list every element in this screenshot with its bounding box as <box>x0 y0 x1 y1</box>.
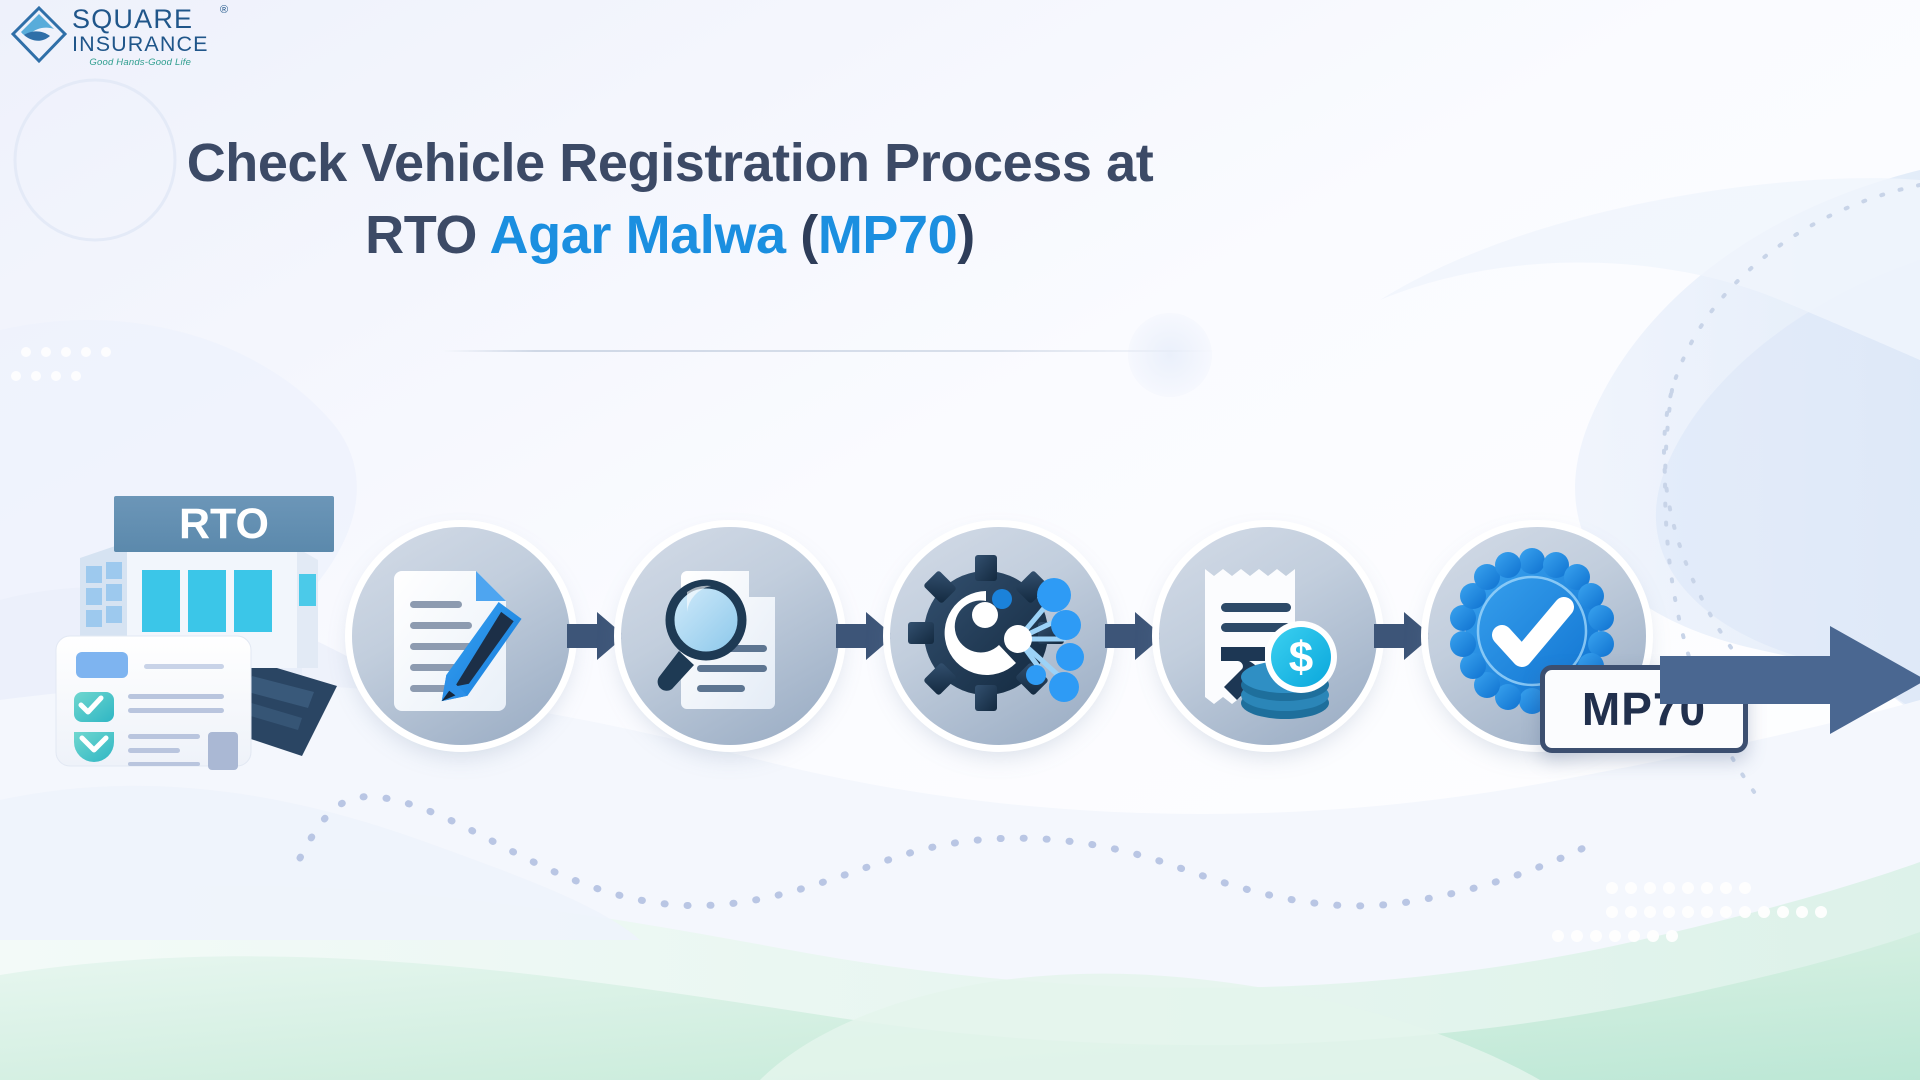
magnifier-document-icon <box>621 527 839 745</box>
process-step-application-form[interactable] <box>352 527 570 745</box>
page-title: Check Vehicle Registration Process at RT… <box>0 128 1340 272</box>
final-large-arrow-icon <box>1660 620 1920 740</box>
connector-arrow-1 <box>567 610 627 662</box>
brand-name-line1: SQUARE <box>72 6 209 33</box>
gear-network-icon <box>890 527 1108 745</box>
brand-wordmark: SQUARE INSURANCE Good Hands-Good Life ® <box>72 4 209 68</box>
title-paren-close: ) <box>957 205 975 265</box>
title-line-2: RTO Agar Malwa (MP70) <box>0 200 1340 272</box>
brand-logo[interactable]: SQUARE INSURANCE Good Hands-Good Life ® <box>8 4 218 72</box>
square-diamond-logo-icon <box>8 4 70 66</box>
title-divider <box>443 350 1218 352</box>
poster-canvas: SQUARE INSURANCE Good Hands-Good Life ® … <box>0 0 1920 1080</box>
title-place-name: Agar Malwa <box>490 205 786 265</box>
rto-sign-label: RTO <box>179 500 269 548</box>
title-paren-open: ( <box>800 205 818 265</box>
process-step-processing[interactable] <box>890 527 1108 745</box>
brand-name-line2: INSURANCE <box>72 34 209 56</box>
title-rto-code: MP70 <box>818 205 957 265</box>
receipt-rupee-coins-icon: $ <box>1159 527 1377 745</box>
rto-office-illustration: RTO <box>52 486 342 786</box>
connector-arrow-3 <box>1105 610 1165 662</box>
connector-arrow-4 <box>1374 610 1434 662</box>
title-rto-label: RTO <box>365 205 477 265</box>
document-with-pen-icon <box>352 527 570 745</box>
svg-text:$: $ <box>1289 633 1313 682</box>
process-step-document-verification[interactable] <box>621 527 839 745</box>
title-line-1: Check Vehicle Registration Process at <box>0 128 1340 200</box>
registered-trademark-icon: ® <box>220 4 228 16</box>
brand-tagline: Good Hands-Good Life <box>72 57 209 68</box>
connector-arrow-2 <box>836 610 896 662</box>
process-step-fee-payment[interactable]: $ <box>1159 527 1377 745</box>
